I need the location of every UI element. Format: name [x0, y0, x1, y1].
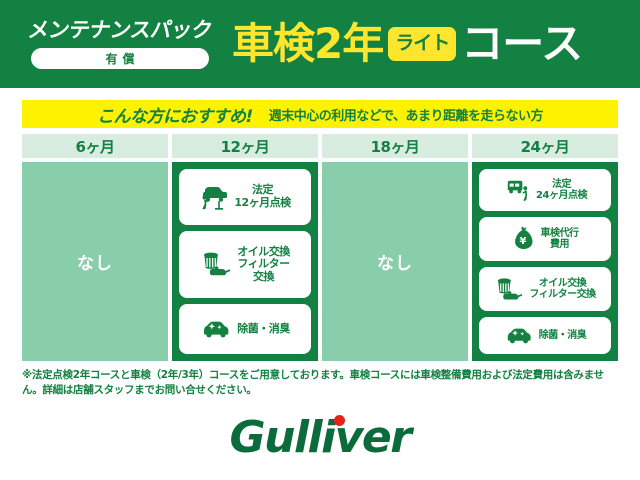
column-body-18months: なし — [322, 162, 468, 361]
service-label: 除菌・消臭 — [237, 323, 290, 336]
service-table: 6ヶ月 なし 12ヶ月 — [22, 134, 618, 361]
recommend-sub: 週末中心の利用などで、あまり距離を走らない方 — [269, 105, 543, 124]
service-label: オイル交換 フィルター 交換 — [237, 246, 290, 284]
car-sparkle-icon — [200, 319, 232, 339]
gulliver-logo-text: Gulliver — [230, 412, 411, 463]
column-header-18months: 18ヶ月 — [322, 134, 468, 158]
footnote-text: ※法定点検2年コースと車検（2年/3年）コースをご用意しております。車検コースに… — [22, 368, 622, 398]
column-header-24months: 24ヶ月 — [472, 134, 618, 158]
column-body-6months: なし — [22, 162, 168, 361]
column-12months: 12ヶ月 — [172, 134, 318, 361]
column-header-12months: 12ヶ月 — [172, 134, 318, 158]
logo-red-dot-icon — [334, 415, 345, 426]
maintenance-pack-title: メンテナンスパック — [26, 20, 213, 41]
column-header-6months: 6ヶ月 — [22, 134, 168, 158]
oil-can-filter-icon — [200, 250, 232, 278]
column-6months: 6ヶ月 なし — [22, 134, 168, 361]
service-label: 除菌・消臭 — [539, 330, 587, 342]
headline-shaken-2year: 車検2年 — [232, 23, 383, 65]
service-card: 除菌・消臭 — [179, 304, 311, 354]
none-label-18months: なし — [377, 249, 413, 274]
column-body-24months: 法定 24ヶ月点検 ¥ 車検代行 費用 — [472, 162, 618, 361]
gulliver-wordmark: Gulliver — [230, 412, 411, 463]
header-banner: メンテナンスパック 有償 車検2年 ライト コース — [0, 0, 640, 88]
service-label: オイル交換 フィルター交換 — [529, 278, 595, 301]
column-18months: 18ヶ月 なし — [322, 134, 468, 361]
service-label: 法定 12ヶ月点検 — [234, 184, 290, 209]
service-label: 法定 24ヶ月点検 — [536, 179, 587, 202]
headline: 車検2年 ライト コース — [232, 23, 630, 65]
advertisement-page: メンテナンスパック 有償 車検2年 ライト コース こんな方におすすめ! 週末中… — [0, 0, 640, 480]
oil-can-filter-icon — [494, 276, 524, 302]
headline-course: コース — [461, 23, 582, 65]
car-sparkle-icon — [504, 326, 534, 345]
recommend-banner: こんな方におすすめ! 週末中心の利用などで、あまり距離を走らない方 — [22, 100, 618, 128]
column-24months: 24ヶ月 — [472, 134, 618, 361]
service-card: オイル交換 フィルター 交換 — [179, 231, 311, 299]
column-body-12months: 法定 12ヶ月点検 — [172, 162, 318, 361]
car-on-lift-icon — [199, 184, 229, 210]
service-card: 法定 24ヶ月点検 — [479, 169, 611, 211]
none-label-6months: なし — [77, 249, 113, 274]
paid-badge: 有償 — [31, 48, 209, 69]
service-card: オイル交換 フィルター交換 — [479, 267, 611, 311]
maintenance-pack-block: メンテナンスパック 有償 — [14, 20, 226, 69]
money-bag-yen-icon: ¥ — [512, 226, 536, 252]
service-card: ¥ 車検代行 費用 — [479, 217, 611, 261]
car-on-lift-icon — [503, 178, 531, 202]
service-label: 車検代行 費用 — [541, 228, 579, 251]
headline-light-badge: ライト — [388, 27, 456, 61]
recommend-lead: こんな方におすすめ! — [97, 102, 253, 127]
service-card: 法定 12ヶ月点検 — [179, 169, 311, 225]
service-card: 除菌・消臭 — [479, 317, 611, 354]
brand-logo: Gulliver — [0, 412, 640, 463]
svg-text:¥: ¥ — [519, 236, 526, 247]
